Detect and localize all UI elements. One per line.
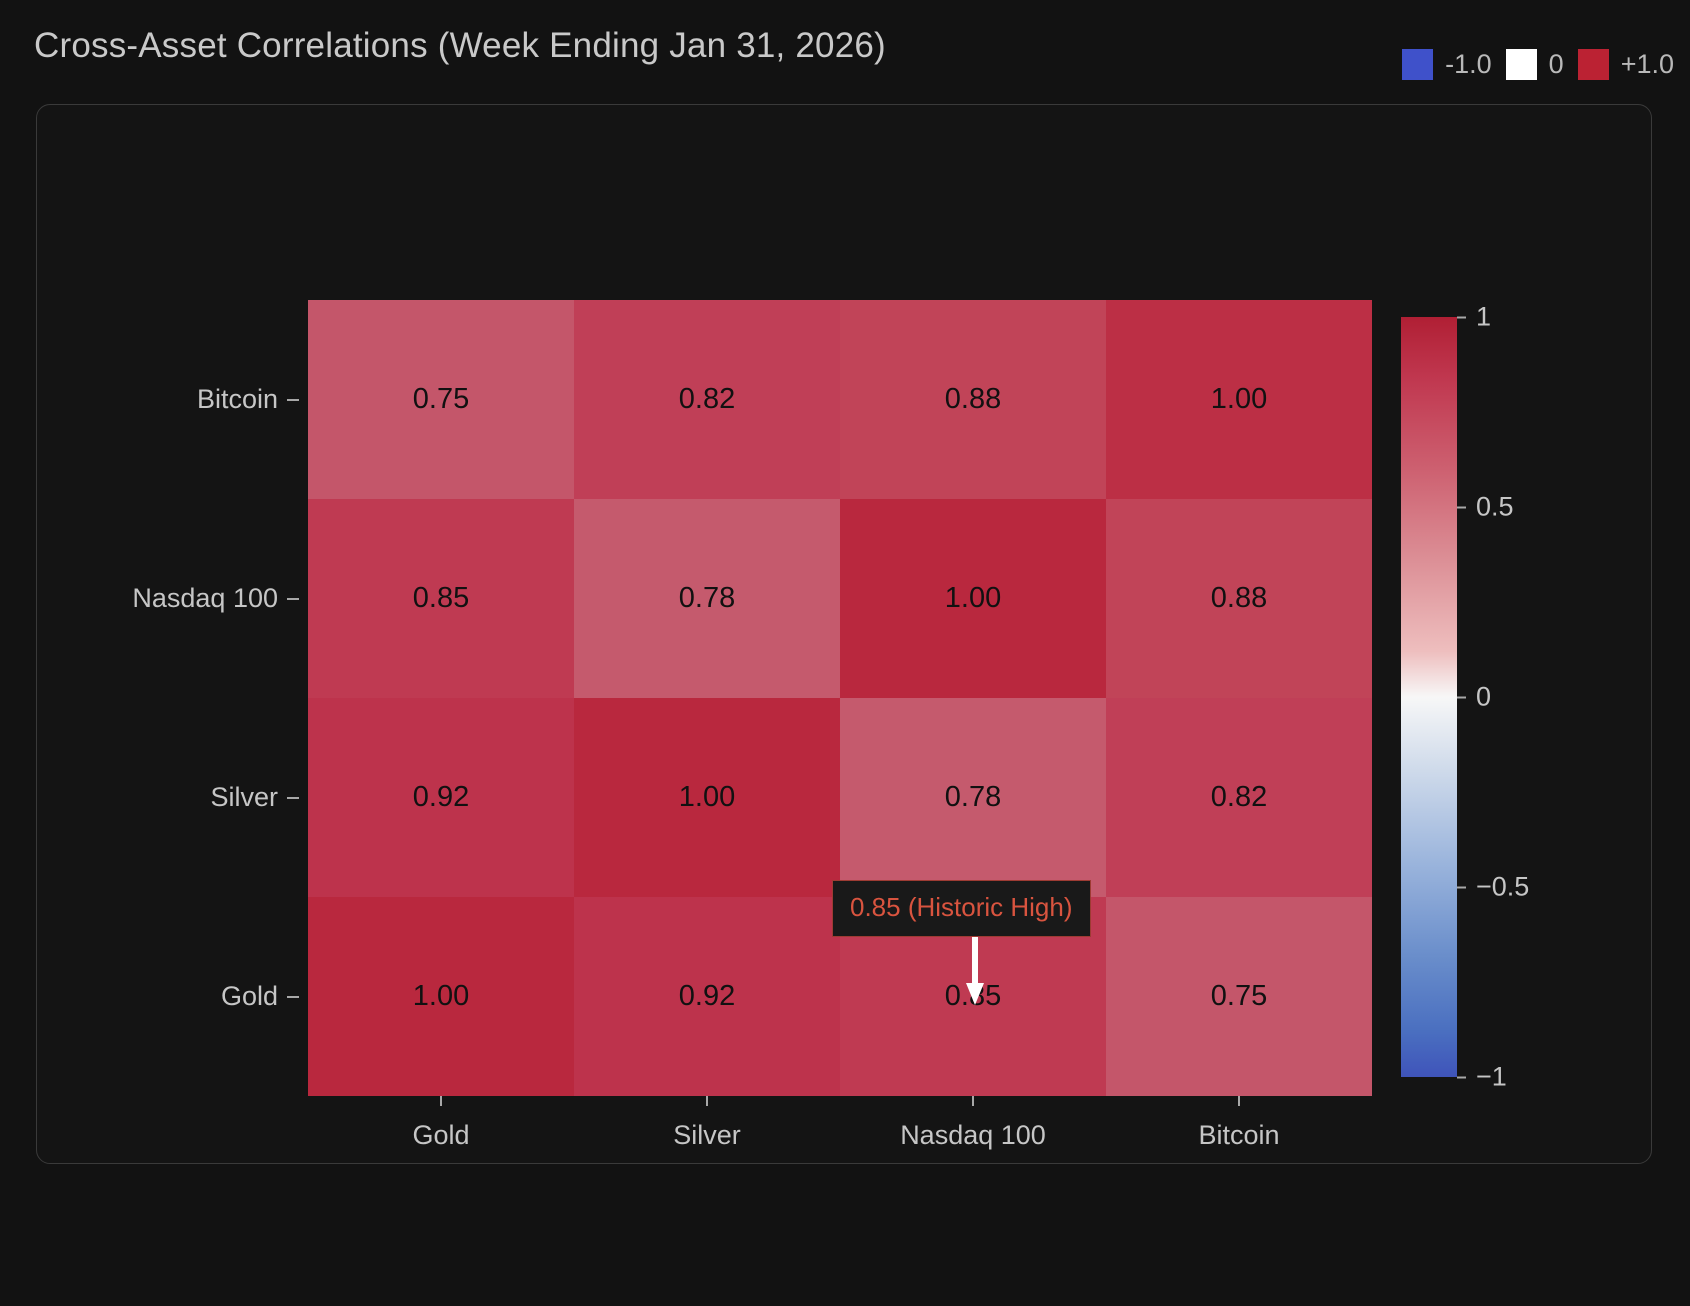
x-tick-label-nasdaq-100: Nasdaq 100 <box>900 1120 1046 1151</box>
legend: -1.0 0 +1.0 <box>1388 47 1674 81</box>
colorbar-tick-label-neg-1: −1 <box>1476 1062 1507 1093</box>
legend-item-positive: +1.0 <box>1578 49 1674 80</box>
heatmap-cell-value: 0.88 <box>945 383 1001 416</box>
heatmap-row-silver: 0.92 1.00 0.78 0.82 <box>308 698 1372 897</box>
x-tick-label-silver: Silver <box>673 1120 741 1151</box>
heatmap-cell-value: 0.78 <box>945 781 1001 814</box>
colorbar-tick-mark-icon <box>1457 316 1466 318</box>
colorbar-tick-mark-icon <box>1457 696 1466 698</box>
heatmap-row-gold: 1.00 0.92 0.85 0.75 <box>308 897 1372 1096</box>
heatmap-cell-value: 0.92 <box>679 980 735 1013</box>
y-tick-mark-icon <box>287 598 299 600</box>
colorbar-tick-mark-icon <box>1457 506 1466 508</box>
y-tick-mark-icon <box>287 996 299 998</box>
heatmap-cell-value: 0.82 <box>1211 781 1267 814</box>
y-tick-label-silver: Silver <box>210 782 278 813</box>
x-axis: Gold Silver Nasdaq 100 Bitcoin <box>308 1096 1372 1176</box>
x-tick-gold: Gold <box>308 1096 574 1176</box>
colorbar-tick-mark-icon <box>1457 886 1466 888</box>
heatmap-cell-nasdaq-100-gold[interactable]: 0.85 <box>308 499 574 698</box>
x-tick-mark-icon <box>440 1096 442 1106</box>
heatmap-cell-value: 1.00 <box>1211 383 1267 416</box>
y-tick-gold: Gold <box>221 897 308 1096</box>
heatmap-cell-value: 0.78 <box>679 582 735 615</box>
heatmap-cell-bitcoin-nasdaq-100[interactable]: 0.88 <box>840 300 1106 499</box>
heatmap-row-nasdaq-100: 0.85 0.78 1.00 0.88 <box>308 499 1372 698</box>
heatmap-cell-value: 1.00 <box>413 980 469 1013</box>
x-tick-mark-icon <box>706 1096 708 1106</box>
heatmap-cell-value: 0.75 <box>413 383 469 416</box>
heatmap-cell-value: 1.00 <box>945 582 1001 615</box>
heatmap-cell-gold-gold[interactable]: 1.00 <box>308 897 574 1096</box>
heatmap-cell-nasdaq-100-silver[interactable]: 0.78 <box>574 499 840 698</box>
heatmap-cell-value: 0.85 <box>945 980 1001 1013</box>
heatmap-cell-silver-nasdaq-100[interactable]: 0.78 <box>840 698 1106 897</box>
heatmap-cell-bitcoin-silver[interactable]: 0.82 <box>574 300 840 499</box>
colorbar-gradient <box>1401 317 1457 1077</box>
colorbar: 1 0.5 0 −0.5 −1 <box>1401 317 1465 1077</box>
y-tick-label-gold: Gold <box>221 981 278 1012</box>
x-tick-silver: Silver <box>574 1096 840 1176</box>
heatmap-cell-value: 0.88 <box>1211 582 1267 615</box>
heatmap-cell-gold-nasdaq-100[interactable]: 0.85 <box>840 897 1106 1096</box>
heatmap-cell-bitcoin-gold[interactable]: 0.75 <box>308 300 574 499</box>
x-tick-label-gold: Gold <box>412 1120 469 1151</box>
x-tick-label-bitcoin: Bitcoin <box>1198 1120 1279 1151</box>
legend-label-negative-one: -1.0 <box>1445 49 1492 80</box>
legend-swatch-positive-one <box>1578 49 1609 80</box>
colorbar-tick-label-1: 1 <box>1476 302 1491 333</box>
heatmap-cell-gold-silver[interactable]: 0.92 <box>574 897 840 1096</box>
colorbar-tick-1: 1 <box>1457 302 1491 333</box>
legend-swatch-zero <box>1506 49 1537 80</box>
chart-header: Cross-Asset Correlations (Week Ending Ja… <box>0 0 1690 92</box>
y-tick-label-nasdaq-100: Nasdaq 100 <box>132 583 278 614</box>
colorbar-tick-mark-icon <box>1457 1076 1466 1078</box>
heatmap-cell-value: 0.85 <box>413 582 469 615</box>
heatmap-cell-silver-bitcoin[interactable]: 0.82 <box>1106 698 1372 897</box>
heatmap-cell-nasdaq-100-nasdaq-100[interactable]: 1.00 <box>840 499 1106 698</box>
colorbar-tick-neg-1: −1 <box>1457 1062 1507 1093</box>
y-tick-mark-icon <box>287 399 299 401</box>
legend-item-zero: 0 <box>1506 49 1564 80</box>
heatmap-cell-value: 0.92 <box>413 781 469 814</box>
legend-label-zero: 0 <box>1549 49 1564 80</box>
heatmap-cell-nasdaq-100-bitcoin[interactable]: 0.88 <box>1106 499 1372 698</box>
legend-item-negative: -1.0 <box>1402 49 1492 80</box>
heatmap-cell-silver-silver[interactable]: 1.00 <box>574 698 840 897</box>
colorbar-tick-label-0: 0 <box>1476 682 1491 713</box>
heatmap-plot-area: 0.75 0.82 0.88 1.00 0.85 0.78 1.00 <box>308 300 1372 1096</box>
chart-panel: Bitcoin Nasdaq 100 Silver Gold 0.75 0.82… <box>36 104 1652 1164</box>
y-tick-nasdaq-100: Nasdaq 100 <box>132 499 308 698</box>
heatmap-cell-gold-bitcoin[interactable]: 0.75 <box>1106 897 1372 1096</box>
heatmap-cell-value: 0.82 <box>679 383 735 416</box>
y-axis: Bitcoin Nasdaq 100 Silver Gold <box>37 300 308 1096</box>
y-tick-label-bitcoin: Bitcoin <box>197 384 278 415</box>
colorbar-tick-label-0-5: 0.5 <box>1476 492 1514 523</box>
colorbar-tick-neg-0-5: −0.5 <box>1457 872 1529 903</box>
colorbar-tick-0: 0 <box>1457 682 1491 713</box>
x-tick-mark-icon <box>1238 1096 1240 1106</box>
x-tick-nasdaq-100: Nasdaq 100 <box>840 1096 1106 1176</box>
colorbar-tick-0-5: 0.5 <box>1457 492 1514 523</box>
x-tick-mark-icon <box>972 1096 974 1106</box>
heatmap-cell-value: 0.75 <box>1211 980 1267 1013</box>
y-tick-bitcoin: Bitcoin <box>197 300 308 499</box>
heatmap-cell-silver-gold[interactable]: 0.92 <box>308 698 574 897</box>
x-tick-bitcoin: Bitcoin <box>1106 1096 1372 1176</box>
y-tick-mark-icon <box>287 797 299 799</box>
legend-label-positive-one: +1.0 <box>1621 49 1674 80</box>
legend-swatch-negative-one <box>1402 49 1433 80</box>
heatmap-cell-bitcoin-bitcoin[interactable]: 1.00 <box>1106 300 1372 499</box>
heatmap-row-bitcoin: 0.75 0.82 0.88 1.00 <box>308 300 1372 499</box>
colorbar-tick-label-neg-0-5: −0.5 <box>1476 872 1529 903</box>
y-tick-silver: Silver <box>210 698 308 897</box>
page-title: Cross-Asset Correlations (Week Ending Ja… <box>34 26 886 66</box>
heatmap-cell-value: 1.00 <box>679 781 735 814</box>
